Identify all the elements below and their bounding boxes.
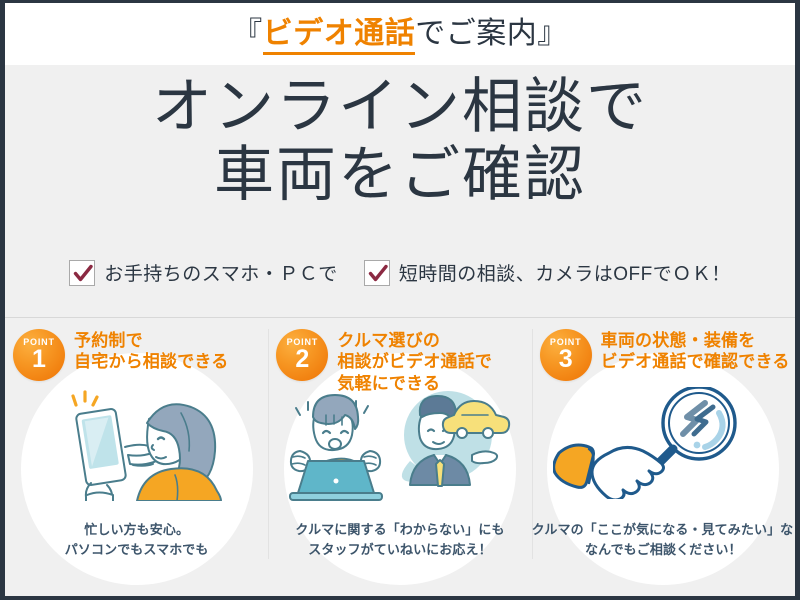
point-card-3: POINT 3 車両の状態・装備を ビデオ通話で確認できる (532, 325, 795, 595)
ribbon-headline: 『ビデオ通話でご案内』 (232, 19, 568, 49)
section-divider (5, 317, 795, 318)
headline-line-1: オンライン相談で (5, 73, 795, 141)
point-badge-3: POINT 3 (540, 329, 592, 381)
point-title-line: 予約制で (74, 330, 228, 351)
feature-check-label-2: 短時間の相談、カメラはOFFでＯＫ！ (399, 259, 731, 286)
point-header-2: POINT 2 クルマ選びの 相談がビデオ通話で 気軽にできる (276, 329, 492, 394)
feature-check-item-1: お手持ちのスマホ・ＰＣで (69, 259, 337, 286)
headline-line-2: 車両をご確認 (5, 141, 795, 209)
feature-check-item-2: 短時間の相談、カメラはOFFでＯＫ！ (364, 259, 731, 286)
point-caption-line: 忙しい方も安心。 (5, 520, 268, 540)
woman-at-laptop-and-staff-with-car-illustration (268, 389, 531, 501)
point-caption-1: 忙しい方も安心。 パソコンでもスマホでも (5, 520, 268, 559)
point-badge-number: 1 (32, 348, 46, 372)
point-title-line: ビデオ通話で確認できる (601, 351, 790, 372)
point-title-2: クルマ選びの 相談がビデオ通話で 気軽にできる (337, 329, 492, 394)
point-title-line: 相談がビデオ通話で (337, 351, 492, 372)
point-caption-line: スタッフがていねいにお応え！ (268, 540, 531, 560)
point-caption-line: なんでもご相談ください！ (532, 540, 795, 560)
point-title-line: クルマ選びの (337, 330, 492, 351)
main-headline: オンライン相談で 車両をご確認 (5, 73, 795, 209)
point-title-3: 車両の状態・装備を ビデオ通話で確認できる (601, 329, 790, 373)
woman-with-smartphone-illustration (5, 383, 268, 501)
point-badge-number: 3 (559, 348, 573, 372)
point-header-3: POINT 3 車両の状態・装備を ビデオ通話で確認できる (540, 329, 790, 381)
point-caption-line: クルマに関する「わからない」にも (268, 520, 531, 540)
ribbon-band: 『ビデオ通話でご案内』 (5, 3, 795, 65)
video-call-promo-banner: 『ビデオ通話でご案内』 オンライン相談で 車両をご確認 お手持ちのスマホ・ＰＣで… (0, 0, 800, 600)
point-caption-3: クルマの「ここが気になる・見てみたい」など なんでもご相談ください！ (532, 520, 795, 559)
point-title-line: 気軽にできる (337, 373, 492, 394)
point-badge-2: POINT 2 (276, 329, 328, 381)
point-card-2: POINT 2 クルマ選びの 相談がビデオ通話で 気軽にできる (268, 325, 531, 595)
hand-holding-magnifying-glass-illustration (532, 387, 795, 499)
feature-check-row: お手持ちのスマホ・ＰＣで 短時間の相談、カメラはOFFでＯＫ！ (5, 259, 795, 286)
point-header-1: POINT 1 予約制で 自宅から相談できる (13, 329, 228, 381)
ribbon-suffix: でご案内 (415, 17, 537, 50)
point-caption-line: クルマの「ここが気になる・見てみたい」など (532, 520, 795, 540)
check-icon (364, 260, 390, 286)
point-title-line: 自宅から相談できる (74, 351, 228, 372)
ribbon-close-bracket: 』 (537, 17, 568, 50)
ribbon-open-bracket: 『 (232, 17, 263, 50)
feature-check-label-1: お手持ちのスマホ・ＰＣで (104, 259, 337, 286)
check-icon (69, 260, 95, 286)
point-caption-line: パソコンでもスマホでも (5, 540, 268, 560)
point-badge-number: 2 (295, 348, 309, 372)
point-card-1: POINT 1 予約制で 自宅から相談できる (5, 325, 268, 595)
points-section: POINT 1 予約制で 自宅から相談できる (5, 325, 795, 595)
point-title-1: 予約制で 自宅から相談できる (74, 329, 228, 373)
ribbon-highlight: ビデオ通話 (263, 17, 416, 55)
point-caption-2: クルマに関する「わからない」にも スタッフがていねいにお応え！ (268, 520, 531, 559)
point-badge-1: POINT 1 (13, 329, 65, 381)
point-title-line: 車両の状態・装備を (601, 330, 790, 351)
